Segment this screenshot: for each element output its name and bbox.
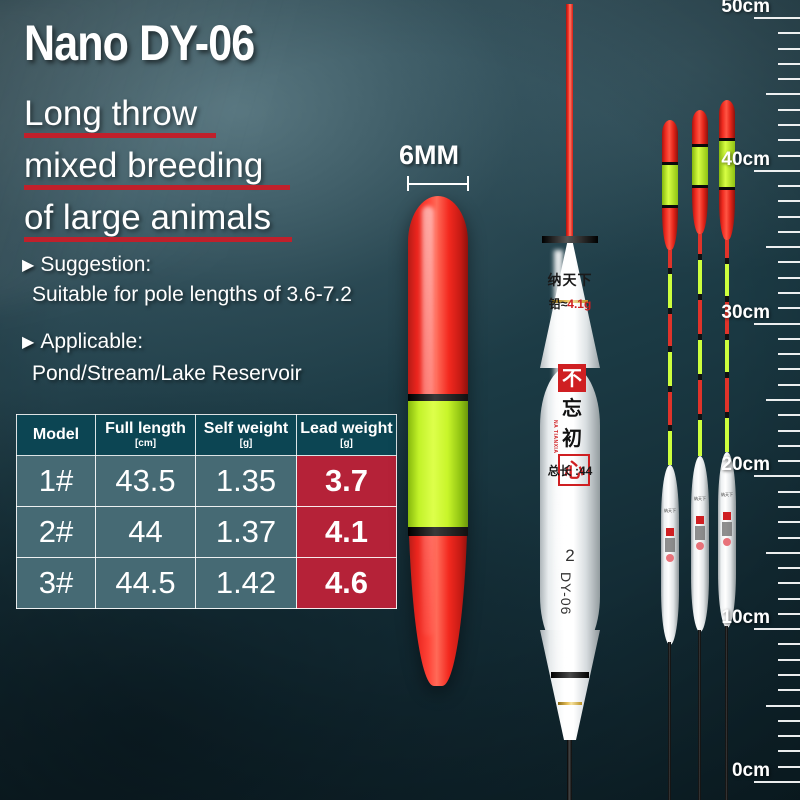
ruler-tick-minor [778, 139, 800, 141]
ruler-tick-minor [778, 216, 800, 218]
subtitle-underline-3 [24, 237, 292, 242]
table-header-row: Model Full length [cm] Self weight [g] L… [17, 415, 397, 456]
ruler-tick-minor [778, 124, 800, 126]
ruler-tick-minor [778, 735, 800, 737]
small-float-black-band-bottom [662, 205, 678, 208]
small-float-logo-block [695, 526, 705, 540]
float-lead-weight-text: 铅≈4.1g [520, 295, 620, 312]
cell-model: 1# [17, 456, 96, 507]
small-float-green-band [692, 147, 708, 185]
dimension-line [407, 183, 469, 185]
float-total-length-text: 总长 :44 [520, 462, 620, 479]
small-float-tail [698, 630, 701, 800]
page-title: Nano DY-06 [24, 18, 254, 68]
main-float: 纳天下 铅≈4.1g 不 忘 初 心 NA TIANXIA 总长 :44 2 D… [520, 0, 620, 800]
small-float-green-band [662, 165, 678, 205]
english-line-1: NA TIANXIA [552, 420, 558, 453]
float-brand-text: 纳天下 [520, 270, 620, 290]
ruler-tick-minor [778, 445, 800, 447]
column-header-lead-weight: Lead weight [g] [297, 415, 397, 456]
ruler-tick-minor [778, 48, 800, 50]
ruler-tick-minor [778, 766, 800, 768]
cell-self-weight: 1.35 [196, 456, 297, 507]
cell-full-length: 44 [96, 507, 196, 558]
ruler-tick-minor [778, 32, 800, 34]
small-float-logo-block [665, 538, 675, 552]
ruler-tick-minor [778, 155, 800, 157]
ruler-label: 0cm [732, 760, 770, 782]
small-float-brand-label: 纳天下 [691, 496, 709, 502]
cell-model: 2# [17, 507, 96, 558]
ruler-tick-minor [778, 200, 800, 202]
ruler-tick-minor [778, 109, 800, 111]
cell-lead-weight: 4.1 [297, 507, 397, 558]
dimension-cap-left [407, 176, 409, 191]
cell-model: 3# [17, 558, 96, 609]
ruler-tick-minor [778, 506, 800, 508]
ruler-tick-minor [778, 292, 800, 294]
ruler-tick-minor [766, 246, 800, 248]
ruler-tick-minor [778, 307, 800, 309]
ruler-label: 30cm [721, 302, 770, 324]
main-float-lower-cone [540, 630, 600, 740]
subtitle-line-1: Long throw [24, 96, 197, 131]
column-header-full-length: Full length [cm] [96, 415, 196, 456]
diameter-callout-label: 6MM [399, 140, 459, 171]
column-header-self-weight: Self weight [g] [196, 415, 297, 456]
ruler-tick-minor [778, 185, 800, 187]
ruler-tick-minor [778, 277, 800, 279]
main-float-antenna [566, 4, 573, 242]
ruler-label: 20cm [721, 454, 770, 476]
triangle-marker-icon: ▶ [22, 332, 34, 352]
suggestion-label: Suggestion: [40, 253, 151, 276]
ruler-tick-minor [778, 261, 800, 263]
ruler-tick-minor [766, 552, 800, 554]
ruler-tick-minor [778, 537, 800, 539]
cell-lead-weight: 4.6 [297, 558, 397, 609]
ruler-tick-minor [778, 567, 800, 569]
main-float-black-band [542, 236, 598, 243]
ruler-tick-minor [778, 582, 800, 584]
float-model-code: DY-06 [558, 572, 574, 615]
dimension-cap-right [467, 176, 469, 191]
float-size-number: 2 [520, 546, 620, 566]
small-float-stripe [668, 250, 672, 465]
small-float-stripe [698, 234, 702, 456]
main-float-carbon-stem [567, 740, 572, 800]
ruler-tick-minor [778, 613, 800, 615]
small-float-logo-dot [696, 542, 704, 550]
ruler-tick-minor [778, 521, 800, 523]
applicable-label: Applicable: [40, 330, 143, 353]
cell-full-length: 43.5 [96, 456, 196, 507]
cell-self-weight: 1.37 [196, 507, 297, 558]
product-advertisement: Nano DY-06 Long throw mixed breeding of … [0, 0, 800, 800]
triangle-marker-icon: ▶ [22, 255, 34, 275]
ruler-tick-minor [778, 338, 800, 340]
ruler-label: 40cm [721, 149, 770, 171]
ruler-tick-minor [778, 750, 800, 752]
table-row: 2# 44 1.37 4.1 [17, 507, 397, 558]
column-header-model: Model [17, 415, 96, 456]
main-float-black-ring-bottom [551, 672, 589, 678]
ruler-tick-minor [778, 368, 800, 370]
lead-value: 4.1g [567, 297, 591, 311]
ruler-tick-minor [778, 720, 800, 722]
applicable-heading: ▶Applicable: [22, 330, 143, 354]
ruler-tick-minor [766, 705, 800, 707]
small-float-logo-mark [696, 516, 704, 524]
ruler-tick-minor [778, 491, 800, 493]
ruler-tick-minor [778, 689, 800, 691]
float-english-brand: NA TIANXIA [548, 420, 558, 453]
main-float-gold-ring-bottom [558, 702, 582, 705]
ruler-tick-minor [778, 231, 800, 233]
small-float-tail [668, 642, 671, 800]
small-float-logo-mark [666, 528, 674, 536]
small-float-black-band-bottom [692, 185, 708, 188]
small-float-brand-label: 纳天下 [661, 508, 679, 514]
small-float-logo-dot [666, 554, 674, 562]
ruler-tick-minor [766, 399, 800, 401]
cell-self-weight: 1.42 [196, 558, 297, 609]
red-float-green-band [408, 401, 468, 529]
logo-char-3: 初 [558, 424, 586, 452]
red-float-closeup [408, 196, 468, 706]
ruler-label: 50cm [721, 0, 770, 18]
subtitle-line-2: mixed breeding [24, 148, 263, 183]
applicable-text: Pond/Stream/Lake Reservoir [32, 362, 302, 386]
ruler-tick-minor [778, 674, 800, 676]
cell-full-length: 44.5 [96, 558, 196, 609]
ruler-tick-minor [778, 659, 800, 661]
ruler-tick-minor [778, 598, 800, 600]
logo-char-1: 不 [558, 364, 586, 392]
table-row: 1# 43.5 1.35 3.7 [17, 456, 397, 507]
red-float-black-band-bottom [408, 527, 468, 536]
suggestion-text: Suitable for pole lengths of 3.6-7.2 [32, 283, 352, 307]
suggestion-heading: ▶Suggestion: [22, 253, 151, 277]
table-row: 3# 44.5 1.42 4.6 [17, 558, 397, 609]
ruler-tick-minor [778, 353, 800, 355]
ruler-tick-minor [778, 430, 800, 432]
ruler-label: 10cm [721, 607, 770, 629]
subtitle-underline-1 [24, 133, 216, 138]
ruler-tick-minor [766, 93, 800, 95]
ruler-tick-minor [778, 414, 800, 416]
cell-lead-weight: 3.7 [297, 456, 397, 507]
subtitle-underline-2 [24, 185, 290, 190]
ruler-tick-minor [778, 643, 800, 645]
logo-char-2: 忘 [558, 394, 586, 422]
ruler-tick-minor [778, 63, 800, 65]
spec-table: Model Full length [cm] Self weight [g] L… [16, 414, 397, 609]
ruler-tick-minor [778, 78, 800, 80]
ruler-tick-minor [778, 460, 800, 462]
measurement-ruler: 50cm40cm30cm20cm10cm0cm [714, 0, 800, 800]
subtitle-line-3: of large animals [24, 200, 271, 235]
ruler-tick-minor [778, 384, 800, 386]
lead-prefix: 铅≈ [549, 297, 568, 311]
